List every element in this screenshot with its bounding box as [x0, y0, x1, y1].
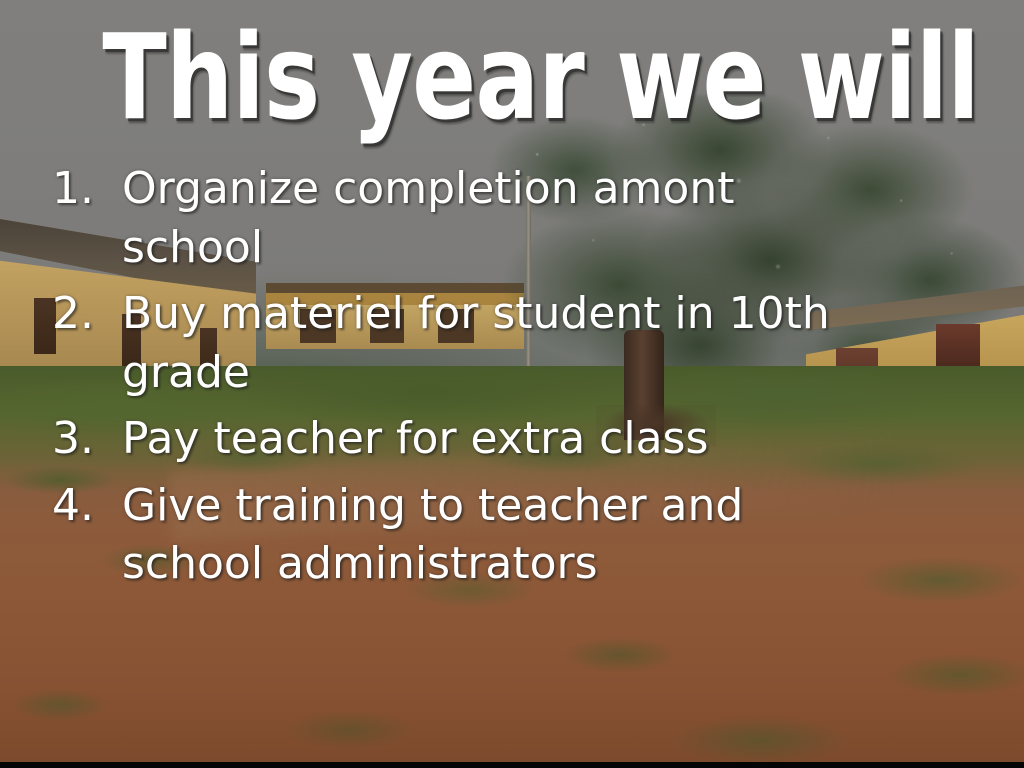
list-item-number: 3. [52, 410, 122, 469]
list-item-text: Buy materiel for student in 10th grade [122, 285, 862, 402]
list-item-number: 4. [52, 477, 122, 536]
slide-content: This year we will 1. Organize completion… [0, 0, 1024, 768]
list-item-text: Pay teacher for extra class [122, 410, 862, 469]
presentation-slide: This year we will 1. Organize completion… [0, 0, 1024, 768]
list-item: 4. Give training to teacher and school a… [52, 477, 952, 594]
list-item-number: 1. [52, 160, 122, 219]
list-item: 1. Organize completion amont school [52, 160, 952, 277]
list-item: 2. Buy materiel for student in 10th grad… [52, 285, 952, 402]
list-item-text: Give training to teacher and school admi… [122, 477, 862, 594]
list-item-number: 2. [52, 285, 122, 344]
slide-title: This year we will [102, 18, 921, 136]
list-item-text: Organize completion amont school [122, 160, 862, 277]
list-item: 3. Pay teacher for extra class [52, 410, 952, 469]
agenda-list: 1. Organize completion amont school 2. B… [52, 160, 952, 602]
